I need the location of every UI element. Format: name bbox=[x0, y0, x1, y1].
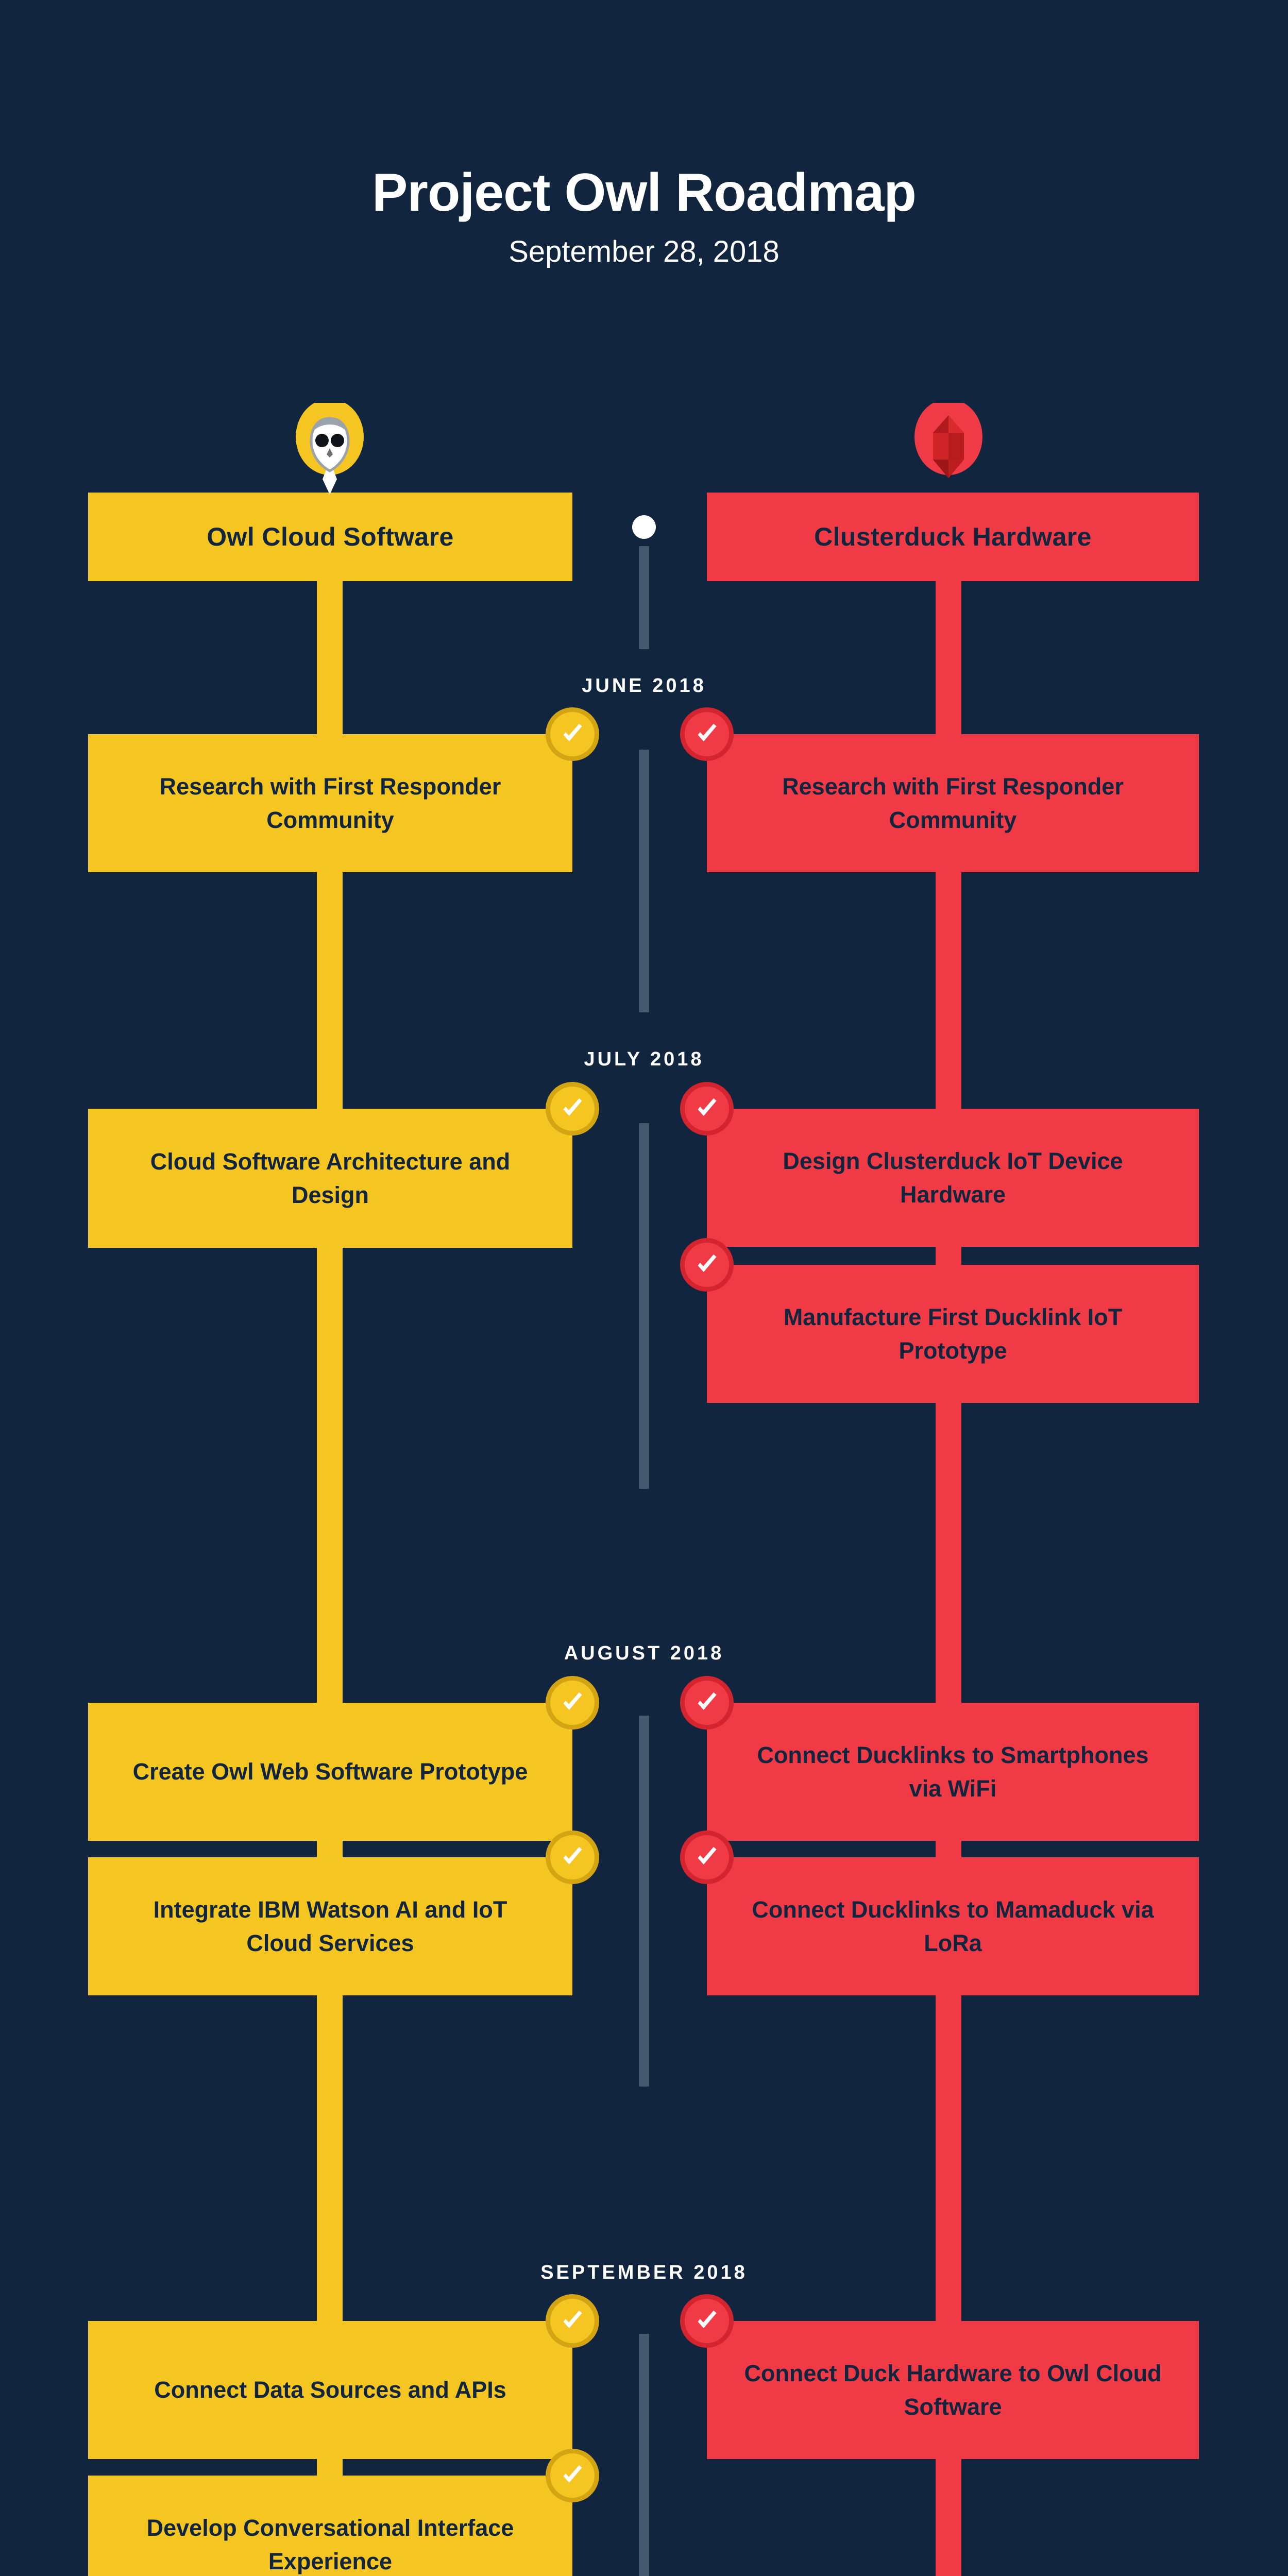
column-header-hardware[interactable]: Clusterduck Hardware bbox=[707, 493, 1199, 581]
roadmap-infographic: Project Owl Roadmap September 28, 2018 O… bbox=[0, 0, 1288, 2576]
connector-left bbox=[317, 581, 343, 756]
month-label: JULY 2018 bbox=[0, 1048, 1288, 1071]
milestone-card-label: Manufacture First Ducklink IoT Prototype bbox=[743, 1300, 1163, 1368]
completed-check-icon bbox=[680, 2294, 734, 2348]
completed-check-icon bbox=[546, 2294, 599, 2348]
milestone-card-label: Research with First Responder Community bbox=[743, 770, 1163, 837]
crystal-icon bbox=[914, 403, 982, 499]
milestone-card[interactable]: Integrate IBM Watson AI and IoT Cloud Se… bbox=[88, 1857, 572, 1995]
column-header-software[interactable]: Owl Cloud Software bbox=[88, 493, 572, 581]
milestone-card[interactable]: Connect Duck Hardware to Owl Cloud Softw… bbox=[707, 2321, 1199, 2459]
milestone-card-label: Research with First Responder Community bbox=[124, 770, 536, 837]
milestone-card[interactable]: Research with First Responder Community bbox=[707, 734, 1199, 872]
divider-dash bbox=[639, 1716, 649, 2087]
connector-left bbox=[317, 1246, 343, 1709]
completed-check-icon bbox=[680, 1676, 734, 1730]
page-header: Project Owl Roadmap September 28, 2018 bbox=[0, 165, 1288, 269]
completed-check-icon bbox=[546, 1676, 599, 1730]
completed-check-icon bbox=[546, 1082, 599, 1136]
completed-check-icon bbox=[680, 707, 734, 761]
month-label: JUNE 2018 bbox=[0, 675, 1288, 697]
milestone-card-label: Integrate IBM Watson AI and IoT Cloud Se… bbox=[124, 1893, 536, 1960]
milestone-card-label: Develop Conversational Interface Experie… bbox=[124, 2511, 536, 2576]
milestone-card[interactable]: Create Owl Web Software Prototype bbox=[88, 1703, 572, 1841]
milestone-card[interactable]: Connect Data Sources and APIs bbox=[88, 2321, 572, 2459]
completed-check-icon bbox=[546, 707, 599, 761]
milestone-card[interactable]: Develop Conversational Interface Experie… bbox=[88, 2476, 572, 2576]
page-subtitle: September 28, 2018 bbox=[0, 234, 1288, 269]
divider-dash bbox=[639, 1123, 649, 1489]
completed-check-icon bbox=[680, 1238, 734, 1292]
completed-check-icon bbox=[546, 2449, 599, 2502]
milestone-card[interactable]: Connect Ducklinks to Mamaduck via LoRa bbox=[707, 1857, 1199, 1995]
completed-check-icon bbox=[546, 1831, 599, 1884]
milestone-card-label: Design Clusterduck IoT Device Hardware bbox=[743, 1144, 1163, 1212]
month-label: AUGUST 2018 bbox=[0, 1642, 1288, 1665]
milestone-card-label: Connect Data Sources and APIs bbox=[154, 2373, 506, 2406]
column-header-hardware-label: Clusterduck Hardware bbox=[814, 522, 1092, 552]
milestone-card[interactable]: Manufacture First Ducklink IoT Prototype bbox=[707, 1265, 1199, 1403]
divider-dash bbox=[639, 546, 649, 649]
month-label: SEPTEMBER 2018 bbox=[0, 2262, 1288, 2284]
milestone-card-label: Connect Ducklinks to Mamaduck via LoRa bbox=[743, 1893, 1163, 1960]
column-header-software-label: Owl Cloud Software bbox=[207, 522, 453, 552]
milestone-card-label: Connect Duck Hardware to Owl Cloud Softw… bbox=[743, 2357, 1163, 2424]
milestone-card-label: Cloud Software Architecture and Design bbox=[124, 1145, 536, 1212]
connector-right bbox=[936, 581, 961, 756]
milestone-card-label: Create Owl Web Software Prototype bbox=[133, 1755, 528, 1788]
completed-check-icon bbox=[680, 1831, 734, 1884]
milestone-card-label: Connect Ducklinks to Smartphones via WiF… bbox=[743, 1738, 1163, 1806]
divider-dash bbox=[639, 2334, 649, 2576]
connector-right bbox=[936, 2458, 961, 2576]
milestone-card[interactable]: Research with First Responder Community bbox=[88, 734, 572, 872]
page-title: Project Owl Roadmap bbox=[0, 165, 1288, 221]
divider-dash bbox=[639, 750, 649, 1012]
milestone-card[interactable]: Connect Ducklinks to Smartphones via WiF… bbox=[707, 1703, 1199, 1841]
milestone-card[interactable]: Design Clusterduck IoT Device Hardware bbox=[707, 1109, 1199, 1247]
connector-left bbox=[317, 871, 343, 1123]
timeline-start-dot bbox=[632, 515, 656, 539]
owl-icon bbox=[296, 403, 364, 499]
connector-right bbox=[936, 871, 961, 1123]
completed-check-icon bbox=[680, 1082, 734, 1136]
milestone-card[interactable]: Cloud Software Architecture and Design bbox=[88, 1109, 572, 1248]
